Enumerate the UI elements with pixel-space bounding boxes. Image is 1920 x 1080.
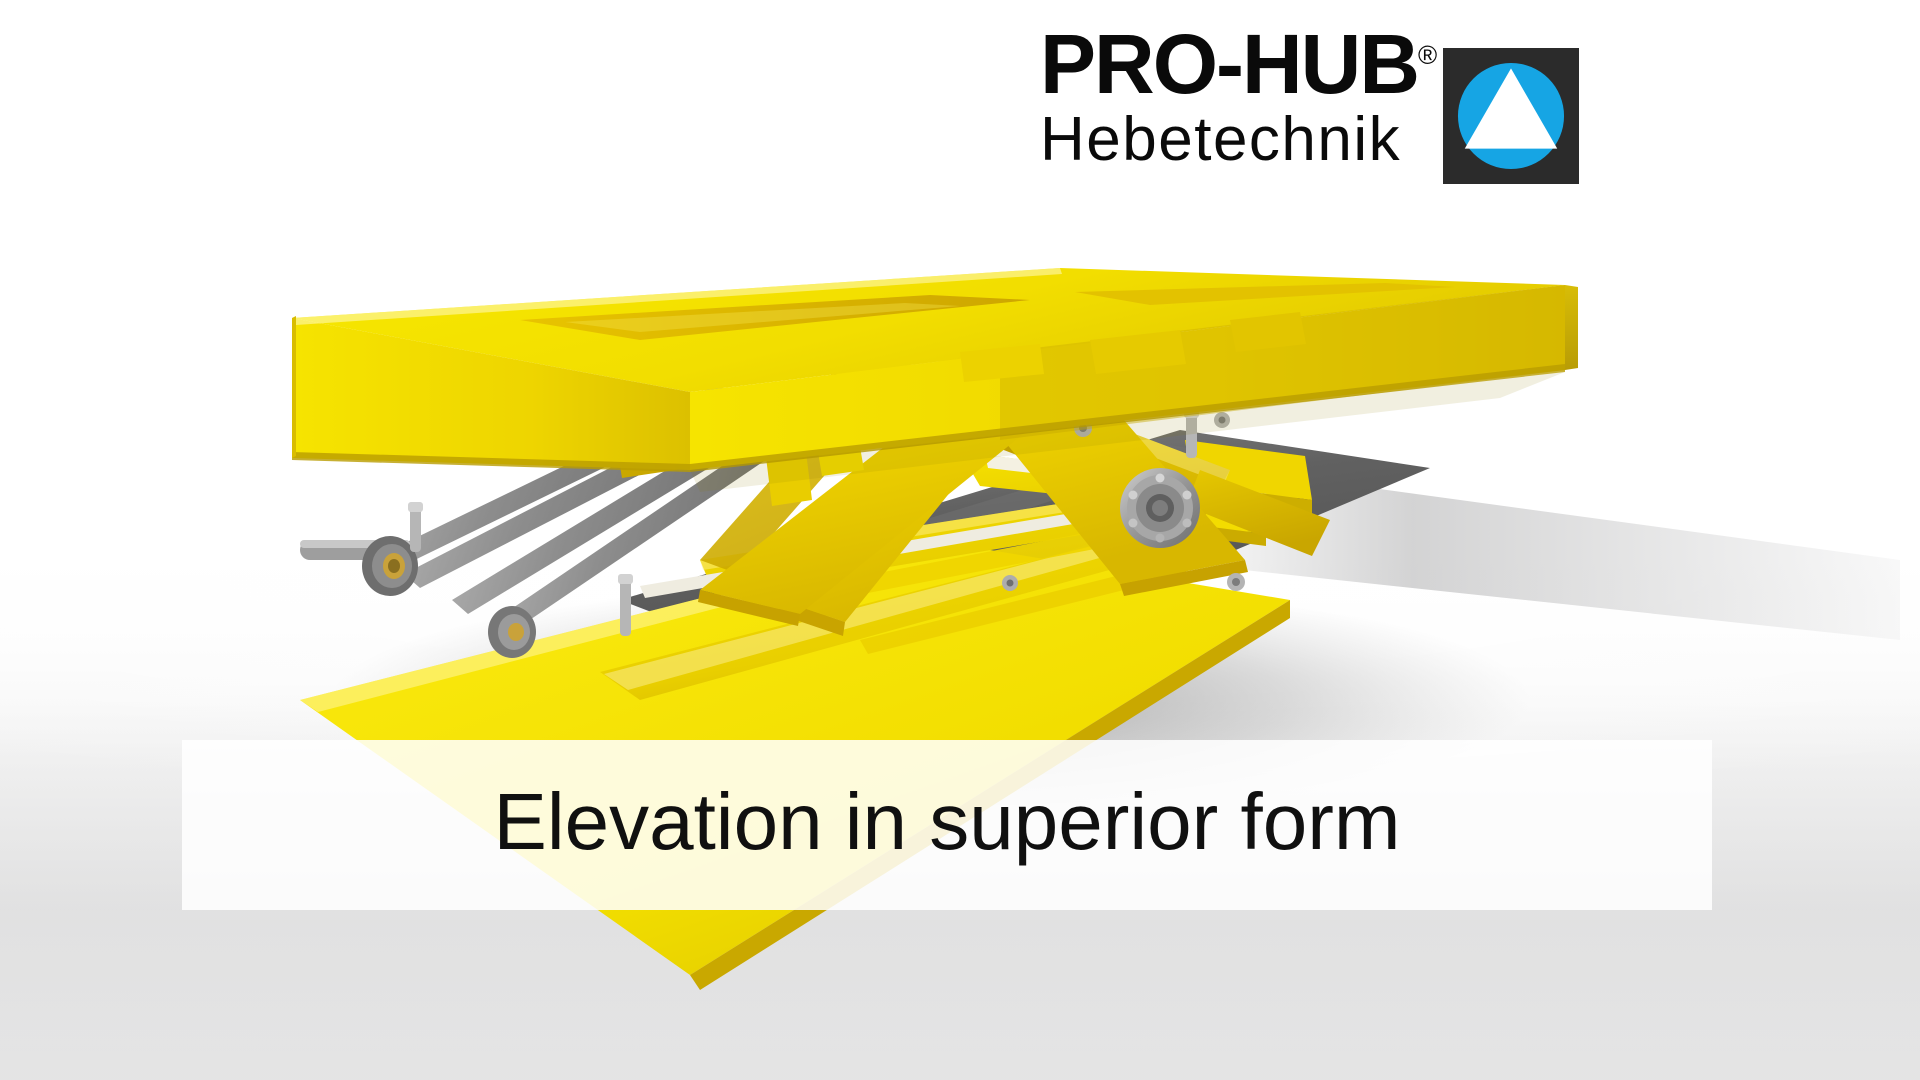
brand-wordmark: PRO-HUB® Hebetechnik — [1040, 28, 1437, 174]
tie-rods — [370, 383, 804, 632]
brand-name-primary: PRO-HUB® — [1040, 28, 1437, 100]
scissor-lift-table-image — [0, 0, 1920, 1080]
brand-name-secondary: Hebetechnik — [1040, 106, 1437, 174]
hydraulic-cylinder — [640, 382, 886, 448]
platform-brackets — [960, 312, 1306, 382]
mid-frame — [612, 398, 864, 506]
brand-logo: PRO-HUB® Hebetechnik — [1040, 28, 1579, 184]
registered-trademark-icon: ® — [1418, 40, 1437, 70]
deck-shadow — [690, 372, 1565, 492]
brand-name-primary-text: PRO-HUB — [1040, 17, 1418, 111]
caption-text: Elevation in superior form — [493, 782, 1400, 868]
center-pivot-hub — [1120, 468, 1200, 548]
guide-pins — [408, 408, 1199, 636]
scissor-blade-rear — [698, 310, 1150, 626]
caption-banner: Elevation in superior form — [182, 740, 1712, 910]
triangle-in-circle-emblem-icon — [1443, 48, 1579, 184]
scissor-arm-right — [700, 300, 1075, 636]
pivot-bolts — [775, 344, 1245, 591]
platform-deck — [292, 268, 1578, 472]
product-hero-stage: PRO-HUB® Hebetechnik Elevation in superi… — [0, 0, 1920, 1080]
scissor-arm-left — [828, 330, 1330, 556]
floor-panel — [620, 430, 1430, 700]
scissor-blade-front — [905, 300, 1248, 596]
roller-assembly — [300, 536, 536, 658]
